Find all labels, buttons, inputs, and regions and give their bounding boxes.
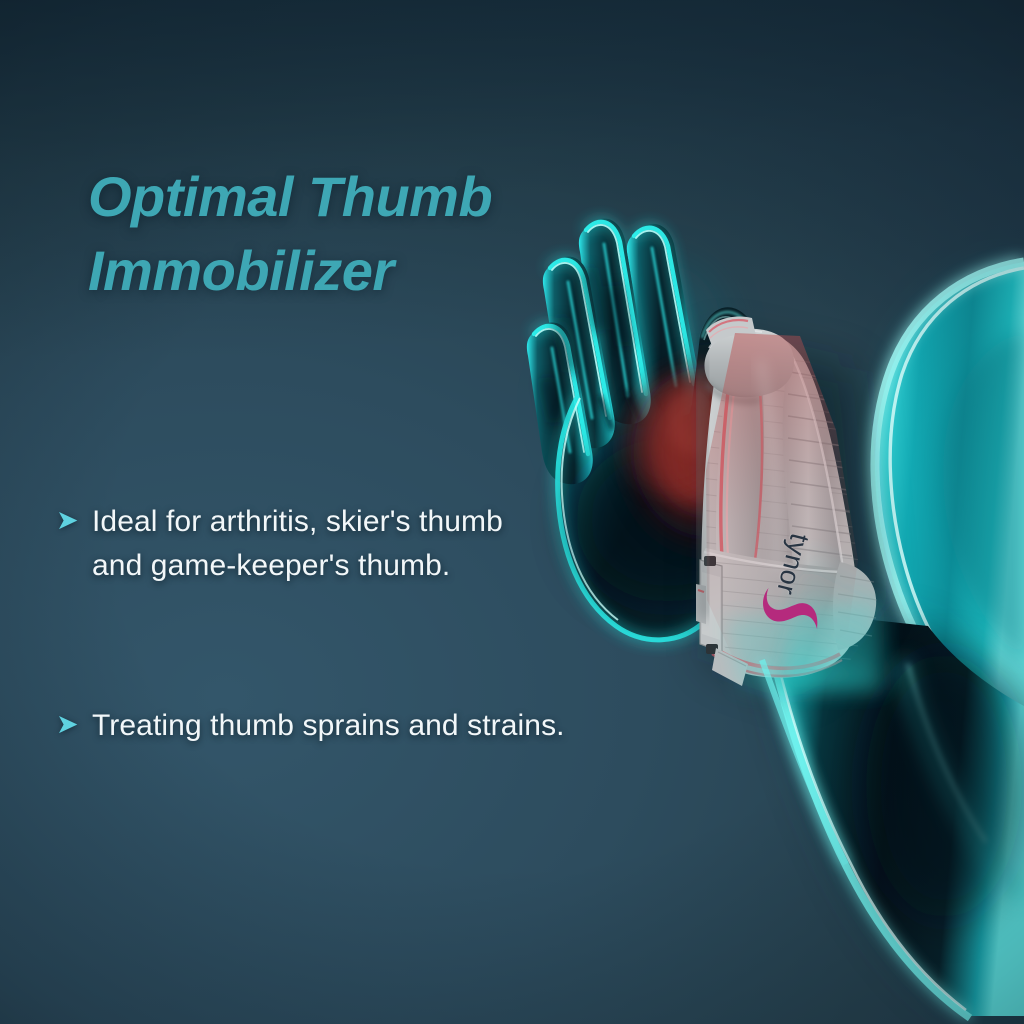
- feature-list: ➤ Ideal for arthritis, skier's thumb and…: [56, 500, 716, 748]
- feature-text: Ideal for arthritis, skier's thumb and g…: [92, 500, 503, 588]
- list-item: ➤ Treating thumb sprains and strains.: [56, 704, 716, 748]
- page-title: Optimal Thumb Immobilizer: [88, 160, 688, 308]
- feature-text: Treating thumb sprains and strains.: [92, 704, 565, 748]
- product-poster: tynor Optimal Thumb Immobilizer ➤ Ideal …: [0, 0, 1024, 1024]
- arrow-bullet-icon: ➤: [56, 704, 92, 744]
- list-item: ➤ Ideal for arthritis, skier's thumb and…: [56, 500, 716, 588]
- arrow-bullet-icon: ➤: [56, 500, 92, 540]
